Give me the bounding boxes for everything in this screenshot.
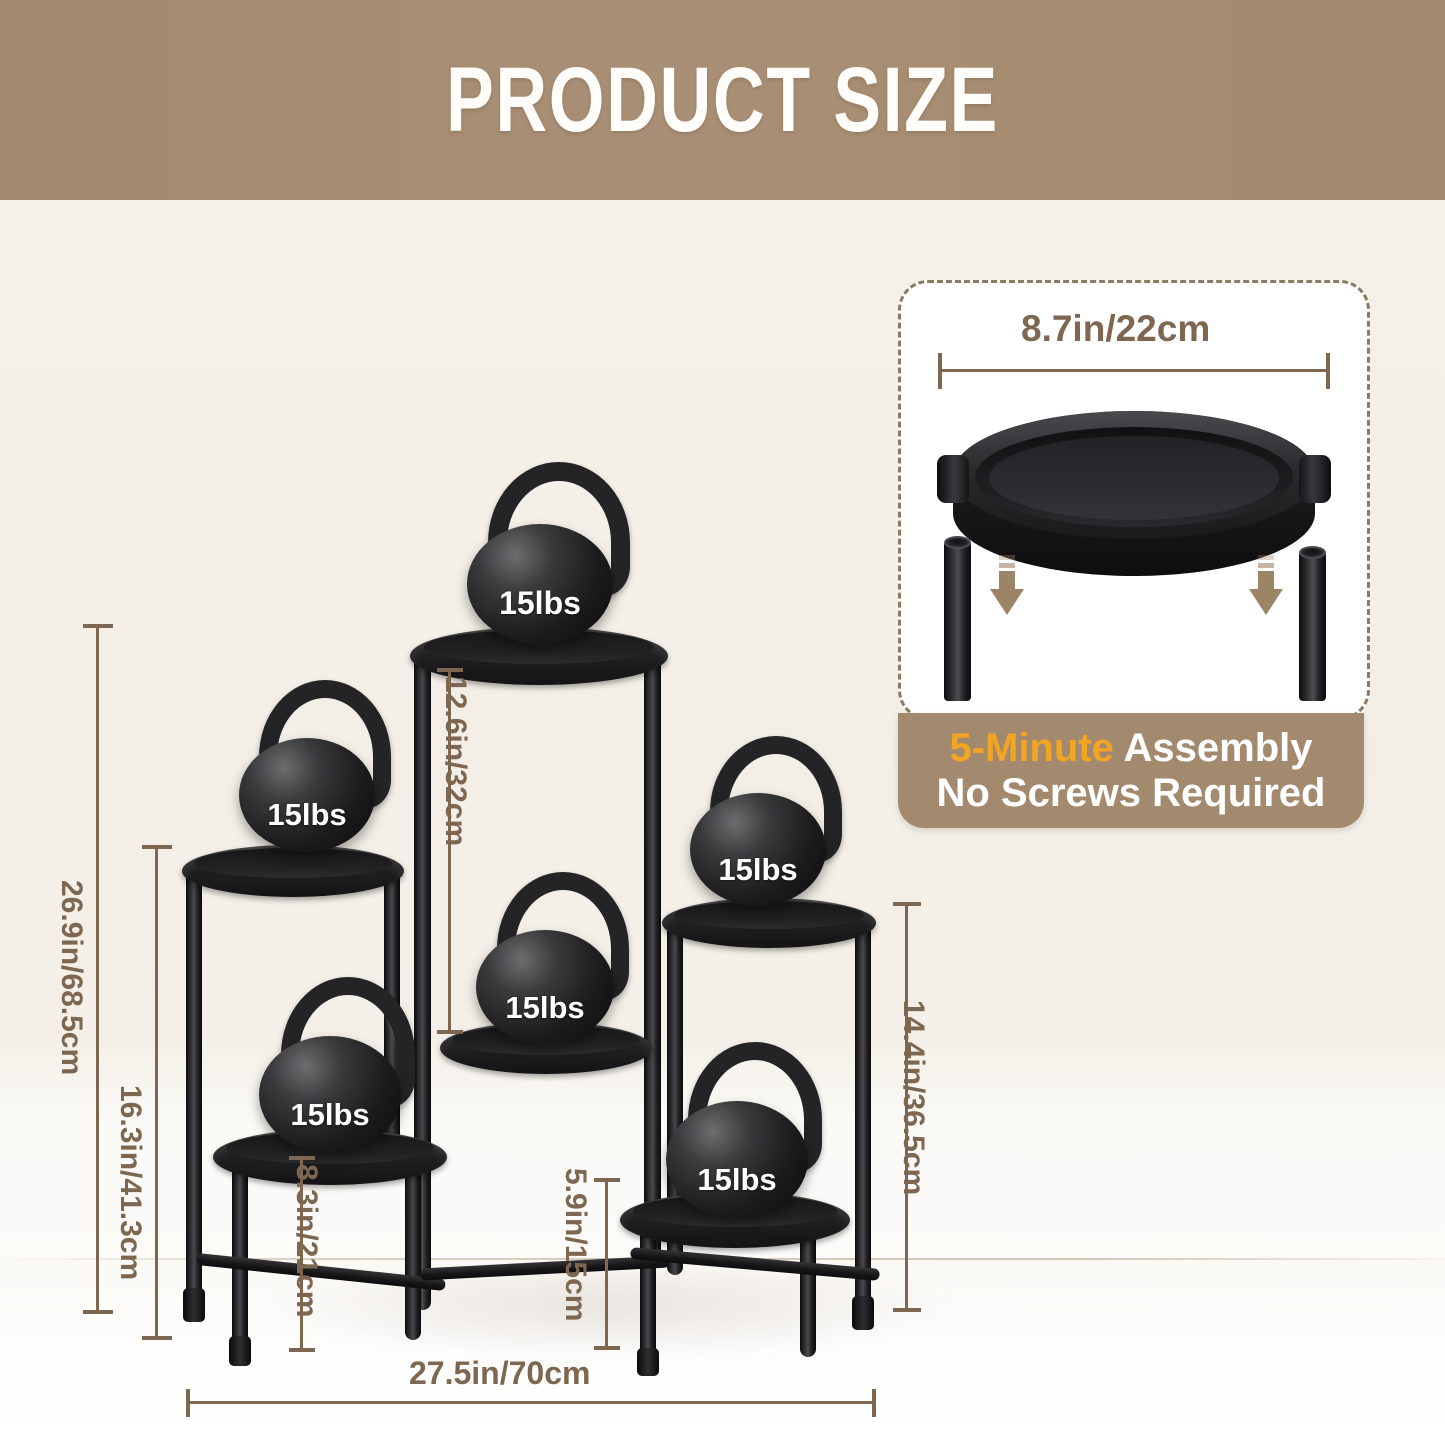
lower-left-leg-a: [232, 1150, 248, 1350]
kettlebell-weight-label: 15lbs: [465, 990, 625, 1026]
tray-basin-floor: [989, 436, 1279, 520]
down-arrow-icon-left: [990, 555, 1024, 617]
kettlebell-ball: [666, 1101, 808, 1218]
kettlebell-weight-label: 15lbs: [248, 1097, 412, 1133]
kettlebell-top: 15lbs: [455, 462, 625, 642]
kettlebell-ball: [467, 524, 613, 644]
lower-left-leg-b: [405, 1150, 421, 1340]
left-tier-leg-a: [186, 862, 202, 1302]
kettlebell-center-middle: 15lbs: [465, 872, 625, 1044]
assembly-badge-rest: Assembly: [1114, 726, 1313, 770]
right-tier-foot-b: [852, 1296, 874, 1330]
kettlebell-weight-label: 15lbs: [680, 852, 836, 888]
tray-socket-left: [937, 455, 969, 503]
kettlebell-right-upper: 15lbs: [680, 736, 836, 906]
tray-socket-right: [1299, 455, 1331, 503]
kettlebell-ball: [690, 793, 826, 906]
assembly-tube-right: [1299, 551, 1326, 701]
tray-left-upper-inner: [194, 848, 392, 878]
dimension-secondary-height-label: 16.3in/41.3cm: [113, 1085, 147, 1280]
kettlebell-lower-right: 15lbs: [655, 1042, 819, 1218]
right-tier-leg-b: [855, 915, 871, 1310]
kettlebell-weight-label: 15lbs: [655, 1162, 819, 1198]
left-tier-foot-a: [183, 1288, 205, 1322]
kettlebell-weight-label: 15lbs: [228, 797, 386, 833]
infographic-canvas: PRODUCT SIZE: [0, 0, 1445, 1445]
lower-right-foot-a: [637, 1348, 659, 1376]
assembly-badge-accent: 5-Minute: [949, 726, 1113, 770]
kettlebell-left-upper: 15lbs: [228, 680, 386, 852]
dimension-tier-gap-left-label: 8.3in/21cm: [289, 1164, 323, 1317]
dimension-total-height-label: 26.9in/68.5cm: [54, 880, 88, 1075]
assembly-tube-left-opening: [944, 536, 971, 549]
assembly-badge: 5-Minute Assembly No Screws Required: [898, 713, 1364, 828]
base-crossbar-center: [420, 1255, 670, 1280]
assembly-tube-right-opening: [1299, 546, 1326, 559]
dimension-right-height-label: 14.4in/36.5cm: [896, 1000, 930, 1195]
assembly-badge-line2: No Screws Required: [936, 771, 1325, 816]
dimension-tier-gap-tall-label: 12.6in/32cm: [438, 676, 472, 846]
kettlebell-lower-left: 15lbs: [248, 977, 412, 1153]
dimension-tray-diameter-label: 8.7in/22cm: [1021, 308, 1210, 350]
kettlebell-ball: [239, 738, 375, 852]
kettlebell-ball: [476, 930, 614, 1044]
assembly-badge-line1: 5-Minute Assembly: [949, 726, 1312, 771]
down-arrow-icon-right: [1249, 555, 1283, 617]
assembly-inset-panel: 8.7in/22cm: [898, 280, 1370, 720]
dimension-tier-gap-right-label: 5.9in/15cm: [558, 1168, 592, 1321]
lower-left-foot-a: [229, 1336, 251, 1366]
dimension-total-width-label: 27.5in/70cm: [409, 1355, 590, 1392]
kettlebell-ball: [259, 1036, 401, 1153]
kettlebell-weight-label: 15lbs: [455, 585, 625, 622]
assembly-tube-left: [944, 541, 971, 701]
